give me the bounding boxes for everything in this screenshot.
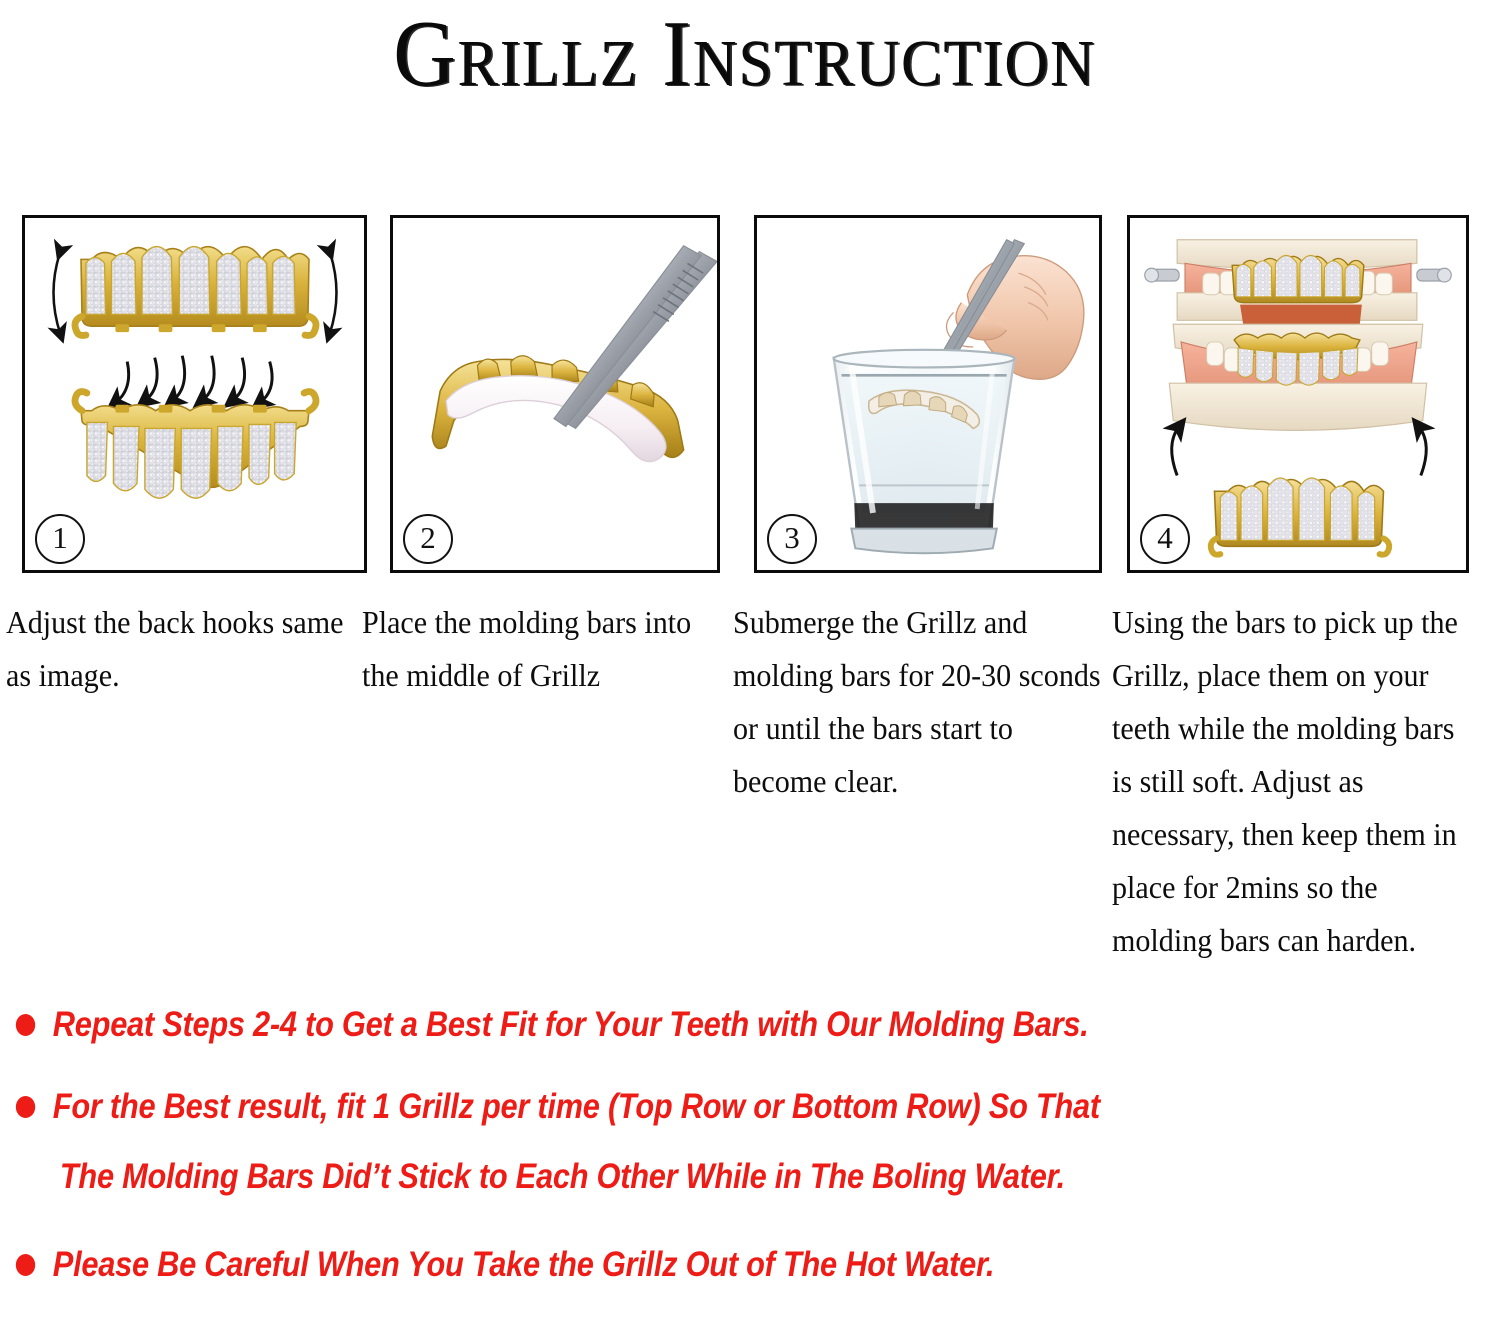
step-caption-2: Place the molding bars into the middle o… [362, 596, 729, 702]
step-caption-4: Using the bars to pick up the Grillz, pl… [1112, 596, 1479, 967]
step-number-badge-2: 2 [403, 514, 453, 564]
step-panel-3: 3 [754, 215, 1102, 573]
step-panel-1: 1 [22, 215, 367, 573]
round-bullet-icon [16, 1254, 35, 1276]
press-down-arrows [115, 356, 272, 403]
step-number-badge-4: 4 [1140, 514, 1190, 564]
steps-panel-row: 1 [0, 215, 1489, 577]
step-panel-2: 2 [390, 215, 720, 573]
note-item: Please Be Careful When You Take the Gril… [0, 1238, 1310, 1292]
hinge-pin-left [1145, 268, 1179, 282]
bend-arrow-left [53, 252, 60, 335]
step-number-badge-1: 1 [35, 514, 85, 564]
bend-arrow-right [330, 252, 337, 335]
note-line-1: For the Best result, fit 1 Grillz per ti… [53, 1080, 1311, 1134]
note-line-1: Please Be Careful When You Take the Gril… [53, 1238, 1311, 1292]
step-caption-1: Adjust the back hooks same as image. [6, 596, 344, 702]
submerge-in-water-illustration [757, 218, 1099, 570]
step-caption-3: Submerge the Grillz and molding bars for… [733, 596, 1104, 808]
loose-grillz [1211, 478, 1389, 555]
step-captions-row: Adjust the back hooks same as image. Pla… [0, 596, 1489, 956]
note-item: Repeat Steps 2-4 to Get a Best Fit for Y… [0, 998, 1310, 1052]
water-glass [834, 350, 1015, 553]
step-panel-4: 4 [1127, 215, 1469, 573]
note-item: For the Best result, fit 1 Grillz per ti… [0, 1080, 1310, 1204]
model-top-grillz [1232, 255, 1364, 302]
grillz-top-row [75, 247, 316, 336]
step-number-badge-3: 3 [767, 514, 817, 564]
insert-arrow-right [1419, 426, 1426, 475]
dental-model-with-grillz-illustration [1130, 218, 1466, 570]
round-bullet-icon [16, 1014, 35, 1036]
note-line-2: The Molding Bars Did’t Stick to Each Oth… [53, 1150, 1311, 1204]
page-title: Grillz Instruction [60, 2, 1430, 106]
insert-arrow-left [1172, 426, 1179, 475]
important-notes-list: Repeat Steps 2-4 to Get a Best Fit for Y… [0, 998, 1489, 1320]
grillz-bottom-row [75, 392, 316, 499]
grillz-rows-illustration [25, 218, 364, 570]
note-line-1: Repeat Steps 2-4 to Get a Best Fit for Y… [53, 998, 1311, 1052]
round-bullet-icon [16, 1096, 35, 1118]
hinge-pin-right [1417, 268, 1451, 282]
